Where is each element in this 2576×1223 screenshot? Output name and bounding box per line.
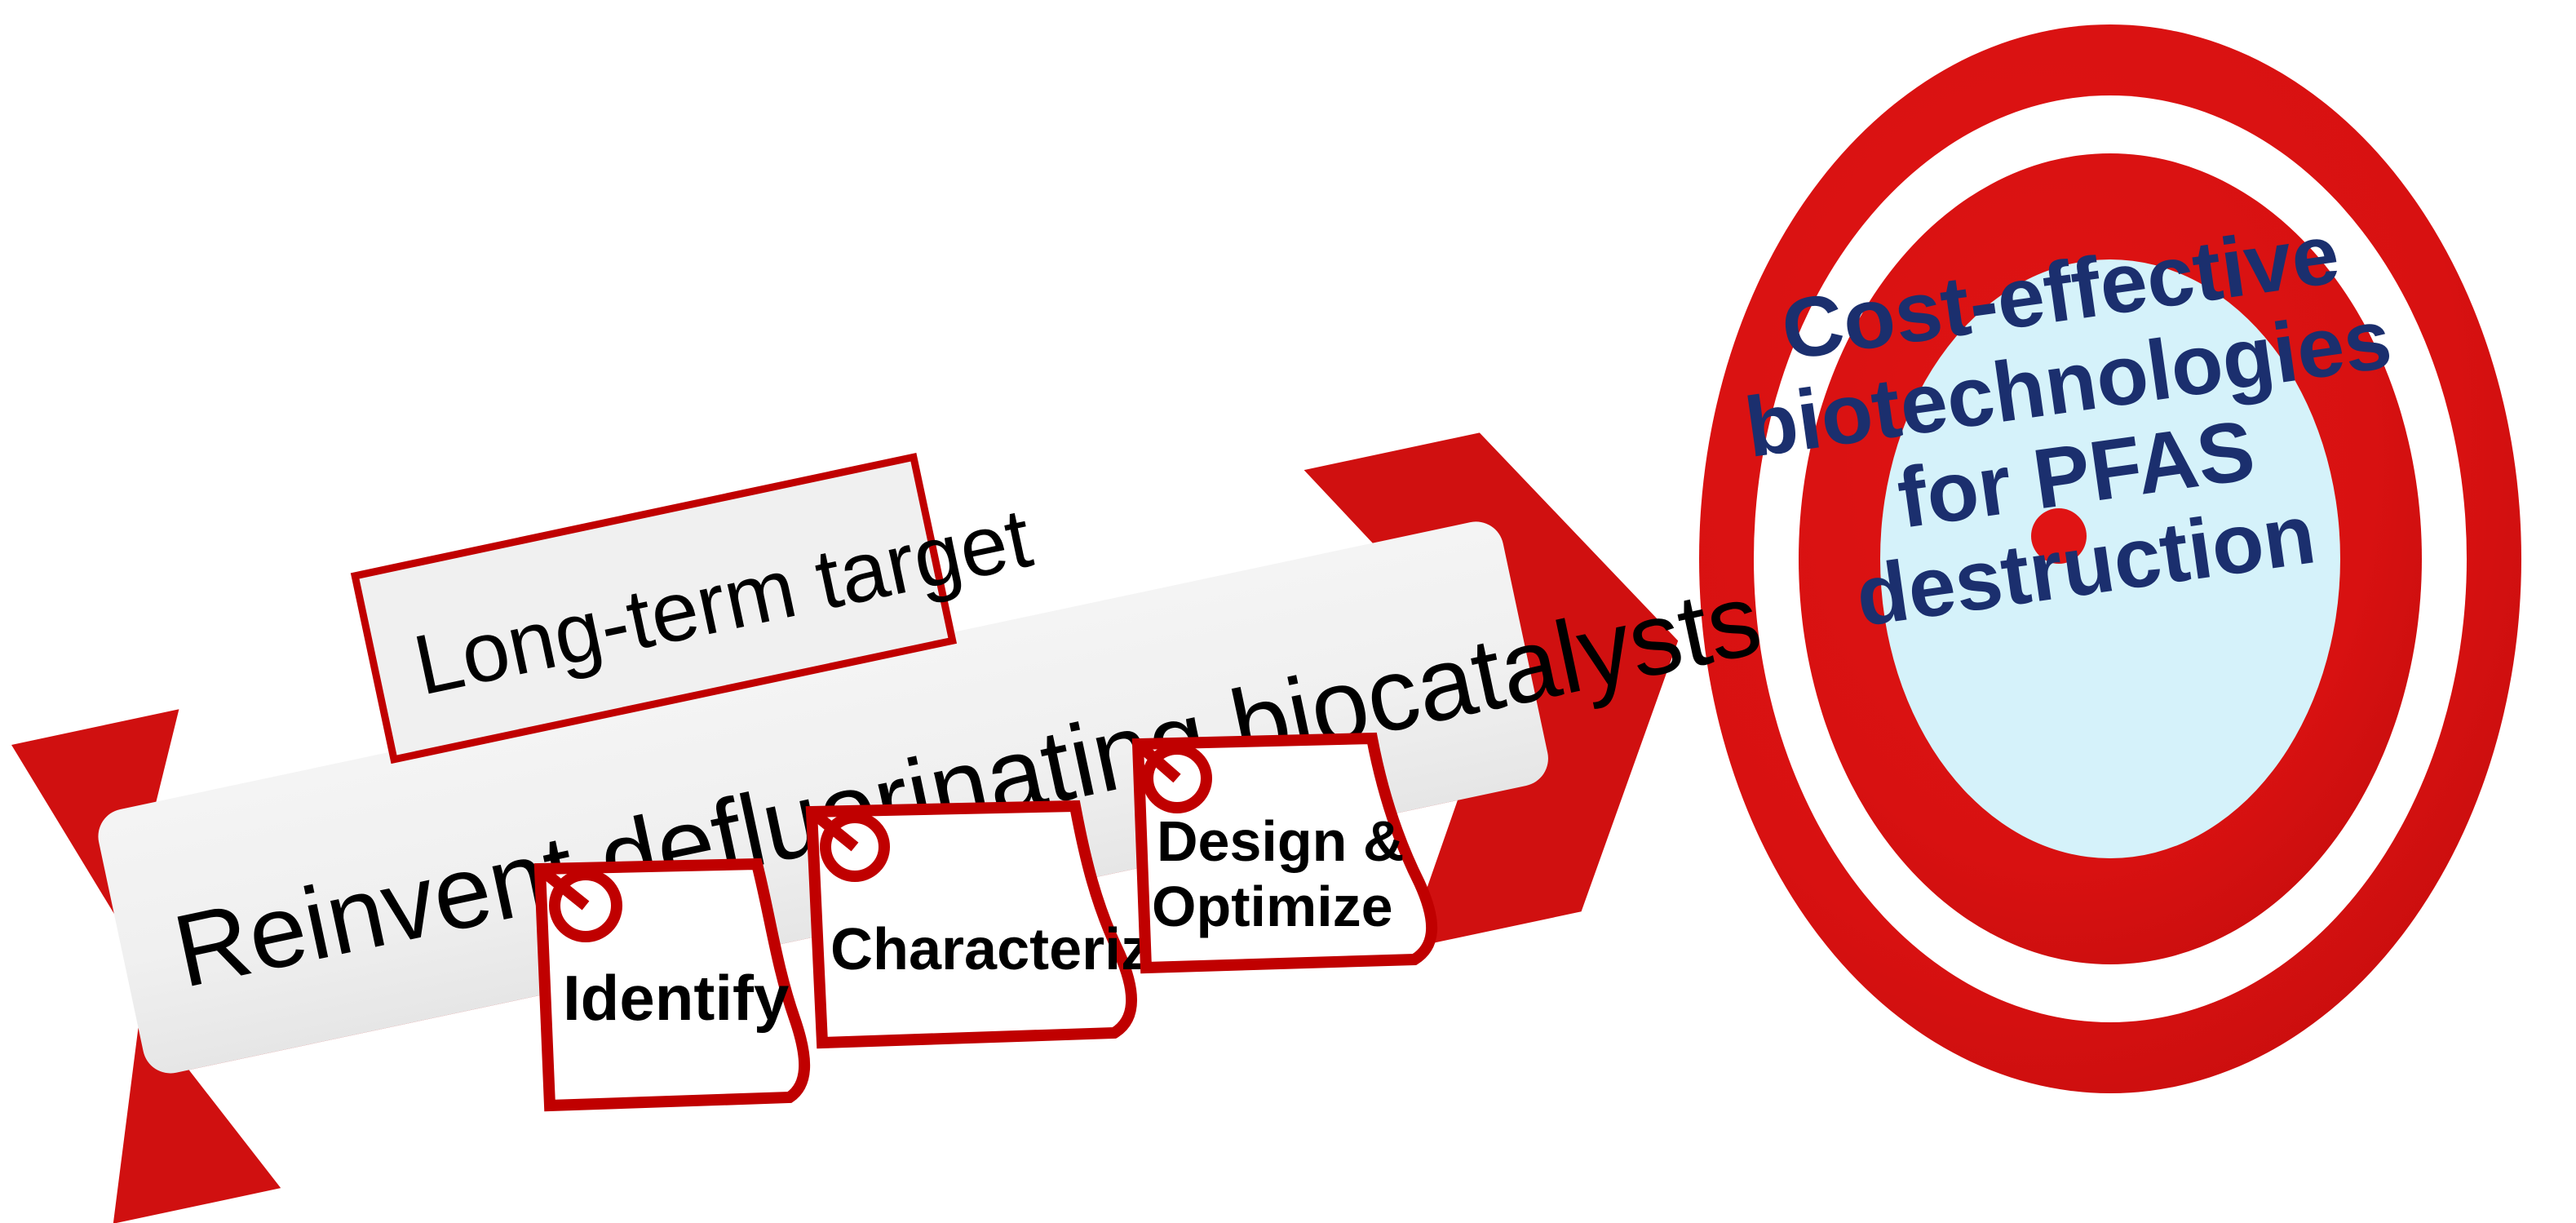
step-card-characterize-label: Characterize bbox=[830, 917, 1183, 982]
step-card-design-label-line2: Optimize bbox=[1152, 875, 1393, 938]
target-group: Cost-effective biotechnologies for PFAS … bbox=[1699, 24, 2521, 1093]
step-card-identify-label: Identify bbox=[563, 962, 789, 1034]
step-card-design-label-line1: Design & bbox=[1157, 809, 1404, 873]
roadmap-diagram: Cost-effective biotechnologies for PFAS … bbox=[0, 0, 2576, 1223]
figure-root: Cost-effective biotechnologies for PFAS … bbox=[0, 0, 2576, 1223]
step-card-identify[interactable]: Identify bbox=[540, 864, 804, 1106]
